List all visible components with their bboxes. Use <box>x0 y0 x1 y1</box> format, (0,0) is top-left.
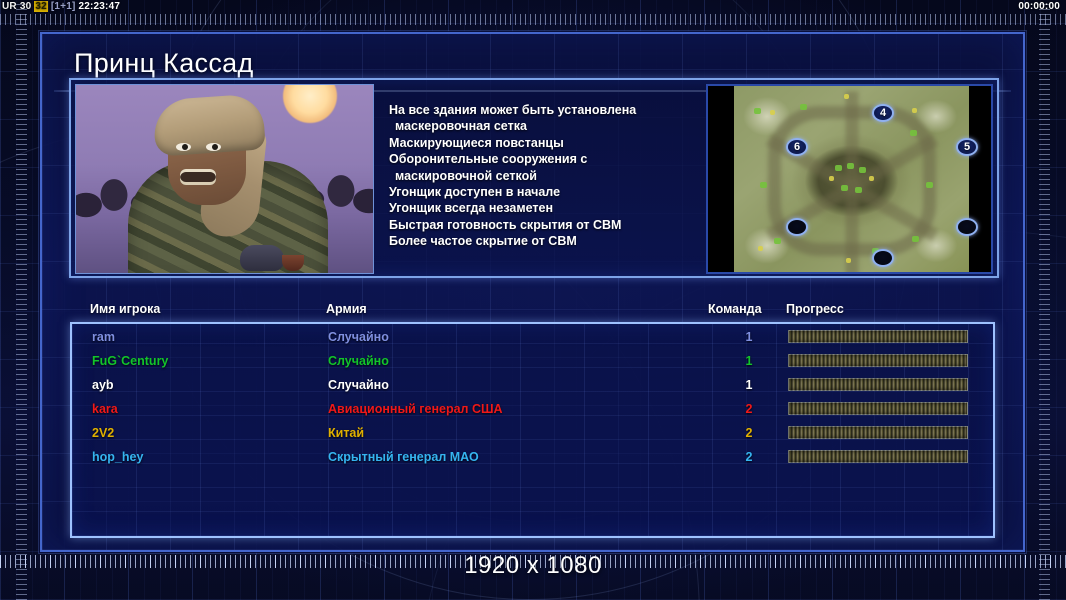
map-prop <box>770 110 775 115</box>
cell-progress <box>788 330 968 343</box>
cell-army: Авиационный генерал США <box>328 402 503 416</box>
cell-player-name: 2V2 <box>92 426 114 440</box>
portrait-eye <box>176 143 191 151</box>
description-line: Оборонительные сооружения с <box>389 151 689 167</box>
status-clock: 22:23:47 <box>78 1 120 12</box>
map-start-position[interactable]: 4 <box>872 104 894 122</box>
map-start-position[interactable]: 6 <box>786 138 808 156</box>
cell-team: 2 <box>737 426 761 440</box>
map-start-position[interactable] <box>872 249 894 267</box>
cell-progress <box>788 402 968 415</box>
column-header-army: Армия <box>326 302 367 316</box>
cell-player-name: ram <box>92 330 115 344</box>
status-bracket: [1+1] <box>51 1 76 12</box>
resolution-label: 1920 x 1080 <box>0 552 1066 580</box>
column-header-player: Имя игрока <box>90 302 160 316</box>
description-line: На все здания может быть установлена <box>389 102 689 118</box>
cell-army: Скрытный генерал МАО <box>328 450 479 464</box>
cell-player-name: hop_hey <box>92 450 143 464</box>
map-prop <box>760 182 767 188</box>
map-start-position[interactable]: 5 <box>956 138 978 156</box>
map-prop <box>912 108 917 113</box>
progress-bar <box>788 426 968 439</box>
ruler-left <box>16 0 27 600</box>
portrait-mouth <box>180 169 216 185</box>
cell-army: Случайно <box>328 354 389 368</box>
table-row[interactable]: aybСлучайно1 <box>72 374 993 398</box>
column-header-team: Команда <box>708 302 762 316</box>
map-prop <box>912 236 919 242</box>
general-description: На все здания может быть установленамаск… <box>389 102 689 250</box>
cell-team: 2 <box>737 450 761 464</box>
map-center-resources <box>829 163 875 199</box>
progress-bar <box>788 354 968 367</box>
progress-bar <box>788 402 968 415</box>
status-value-a: 30 <box>20 1 32 12</box>
description-line: Маскирующиеся повстанцы <box>389 135 689 151</box>
map-prop <box>758 246 763 251</box>
table-row[interactable]: FuG`CenturyСлучайно1 <box>72 350 993 374</box>
map-prop <box>844 94 849 99</box>
portrait-eye <box>206 143 221 151</box>
cell-progress <box>788 378 968 391</box>
map-prop <box>800 104 807 110</box>
cell-player-name: FuG`Century <box>92 354 168 368</box>
cell-progress <box>788 354 968 367</box>
player-table: ramСлучайно1FuG`CenturyСлучайно1aybСлуча… <box>70 322 995 538</box>
progress-bar <box>788 378 968 391</box>
player-table-header: Имя игрока Армия Команда Прогресс <box>70 302 995 322</box>
map-start-position[interactable] <box>786 218 808 236</box>
cell-team: 1 <box>737 330 761 344</box>
description-line: Более частое скрытие от СВМ <box>389 233 689 249</box>
cell-player-name: ayb <box>92 378 114 392</box>
cell-progress <box>788 426 968 439</box>
table-row[interactable]: ramСлучайно1 <box>72 326 993 350</box>
description-line: маскировочной сеткой <box>389 168 689 184</box>
map-prop <box>910 130 917 136</box>
status-left: UR 30 32 [1+1] 22:23:47 <box>2 0 120 13</box>
cell-progress <box>788 450 968 463</box>
description-line: маскеровочная сетка <box>389 118 689 134</box>
description-line: Угонщик доступен в начале <box>389 184 689 200</box>
progress-bar <box>788 330 968 343</box>
map-preview[interactable]: 465 <box>706 84 993 274</box>
cell-army: Случайно <box>328 378 389 392</box>
lobby-window: Принц Кассад На все здания <box>40 32 1025 552</box>
general-info-panel: На все здания может быть установленамаск… <box>69 78 999 278</box>
map-terrain: 465 <box>734 86 969 274</box>
cell-army: Случайно <box>328 330 389 344</box>
ruler-right <box>1039 0 1050 600</box>
page-title: Принц Кассад <box>74 48 254 79</box>
cell-team: 2 <box>737 402 761 416</box>
status-latency-prefix: UR <box>2 1 17 12</box>
portrait-teapot <box>240 245 284 271</box>
general-portrait <box>75 84 374 274</box>
status-bar: UR 30 32 [1+1] 22:23:47 00:00:00 <box>0 0 1066 13</box>
column-header-progress: Прогресс <box>786 302 844 316</box>
cell-team: 1 <box>737 378 761 392</box>
cell-team: 1 <box>737 354 761 368</box>
map-prop <box>846 258 851 263</box>
progress-bar <box>788 450 968 463</box>
table-row[interactable]: hop_heyСкрытный генерал МАО2 <box>72 446 993 470</box>
table-row[interactable]: karaАвиационный генерал США2 <box>72 398 993 422</box>
description-line: Быстрая готовность скрытия от СВМ <box>389 217 689 233</box>
map-prop <box>926 182 933 188</box>
map-prop <box>754 108 761 114</box>
game-lobby-screen: UR 30 32 [1+1] 22:23:47 00:00:00 Принц К… <box>0 0 1066 600</box>
status-timer: 00:00:00 <box>1018 0 1060 13</box>
status-value-b: 32 <box>34 1 48 12</box>
description-line: Угонщик всегда незаметен <box>389 200 689 216</box>
cell-army: Китай <box>328 426 364 440</box>
table-row[interactable]: 2V2Китай2 <box>72 422 993 446</box>
ruler-top <box>0 14 1066 25</box>
map-start-position[interactable] <box>956 218 978 236</box>
map-prop <box>774 238 781 244</box>
cell-player-name: kara <box>92 402 118 416</box>
